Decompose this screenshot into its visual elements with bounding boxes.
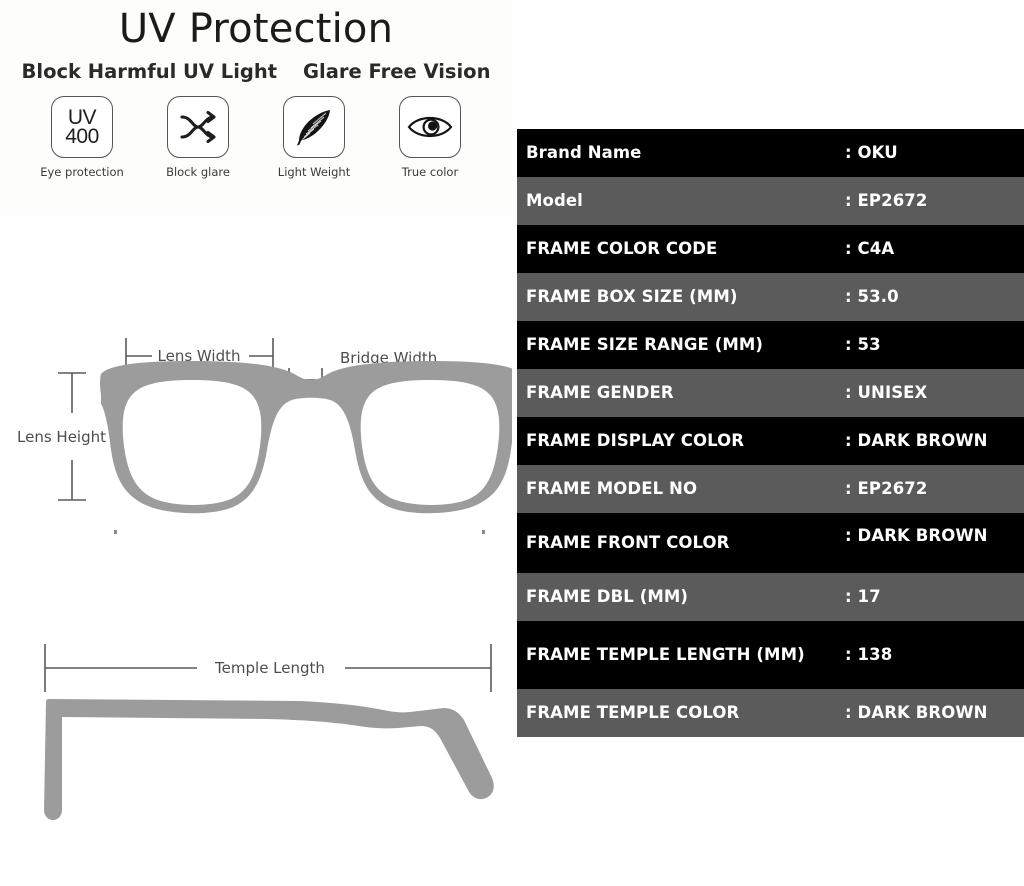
table-row: FRAME TEMPLE LENGTH (MM) : 138 [517, 621, 1024, 689]
spec-value: : C4A [845, 240, 1024, 258]
spec-label: FRAME SIZE RANGE (MM) [517, 336, 845, 354]
table-row: FRAME GENDER : UNISEX [517, 369, 1024, 417]
spec-value: : 53 [845, 336, 1024, 354]
temple-arm-shape [44, 699, 494, 820]
uv400-icon: UV 400 [51, 96, 113, 158]
table-row: FRAME DBL (MM) : 17 [517, 573, 1024, 621]
frame-tick-right [482, 530, 485, 534]
spec-value: : EP2672 [845, 192, 1024, 210]
uv-banner-subtitles: Block Harmful UV Light Glare Free Vision [0, 60, 512, 83]
uv-protection-banner: UV Protection Block Harmful UV Light Gla… [0, 0, 512, 215]
spec-value: : EP2672 [845, 480, 1024, 498]
table-row: FRAME COLOR CODE : C4A [517, 225, 1024, 273]
spec-label: FRAME DBL (MM) [517, 588, 845, 606]
spec-label: FRAME GENDER [517, 384, 845, 402]
spec-value: : OKU [845, 144, 1024, 162]
table-row: FRAME TEMPLE COLOR : DARK BROWN [517, 689, 1024, 737]
spec-value: : 53.0 [845, 288, 1024, 306]
lens-height-label: Lens Height [17, 428, 106, 446]
feature-block-glare: Block glare [152, 96, 244, 179]
table-row: FRAME SIZE RANGE (MM) : 53 [517, 321, 1024, 369]
feature-label-block-glare: Block glare [166, 165, 230, 179]
feature-label-light-weight: Light Weight [278, 165, 350, 179]
feature-label-eye-protection: Eye protection [40, 165, 124, 179]
table-row: FRAME BOX SIZE (MM) : 53.0 [517, 273, 1024, 321]
spec-label: Brand Name [517, 144, 845, 162]
spec-value: : DARK BROWN [845, 704, 1024, 722]
frame-tick-left [114, 530, 117, 534]
spec-value: : DARK BROWN [845, 527, 1024, 545]
spec-value: : 17 [845, 588, 1024, 606]
uv-banner-title: UV Protection [0, 0, 512, 52]
feature-eye-protection: UV 400 Eye protection [36, 96, 128, 179]
table-row: FRAME DISPLAY COLOR : DARK BROWN [517, 417, 1024, 465]
spec-label: Model [517, 192, 845, 210]
table-row: Brand Name : OKU [517, 129, 1024, 177]
spec-label: FRAME DISPLAY COLOR [517, 432, 845, 450]
shuffle-arrows-icon [167, 96, 229, 158]
spec-label: FRAME COLOR CODE [517, 240, 845, 258]
spec-value: : UNISEX [845, 384, 1024, 402]
eyeglass-frame-shape [100, 361, 512, 513]
table-row: FRAME MODEL NO : EP2672 [517, 465, 1024, 513]
uv-feature-list: UV 400 Eye protection Block glare [0, 96, 512, 179]
uv400-line2: 400 [65, 127, 99, 146]
product-spec-table: Brand Name : OKU Model : EP2672 FRAME CO… [517, 129, 1024, 737]
spec-label: FRAME TEMPLE LENGTH (MM) [517, 646, 845, 664]
feature-true-color: True color [384, 96, 476, 179]
spec-label: FRAME TEMPLE COLOR [517, 704, 845, 722]
temple-length-label: Temple Length [214, 659, 325, 677]
frame-measurement-diagram: Lens Width Bridge Width Lens Height [0, 228, 512, 558]
uv-subtitle-glare-free: Glare Free Vision [303, 60, 490, 83]
uv-subtitle-block-uv: Block Harmful UV Light [22, 60, 278, 83]
feature-light-weight: Light Weight [268, 96, 360, 179]
product-info-panel: UV Protection Block Harmful UV Light Gla… [0, 0, 512, 886]
spec-label: FRAME BOX SIZE (MM) [517, 288, 845, 306]
feature-label-true-color: True color [402, 165, 458, 179]
eye-icon [399, 96, 461, 158]
spec-label: FRAME FRONT COLOR [517, 534, 845, 552]
table-row: Model : EP2672 [517, 177, 1024, 225]
temple-measurement-diagram: Temple Length [0, 612, 512, 872]
spec-value: : DARK BROWN [845, 432, 1024, 450]
feather-icon [283, 96, 345, 158]
spec-label: FRAME MODEL NO [517, 480, 845, 498]
table-row: FRAME FRONT COLOR : DARK BROWN [517, 513, 1024, 573]
spec-value: : 138 [845, 646, 1024, 664]
